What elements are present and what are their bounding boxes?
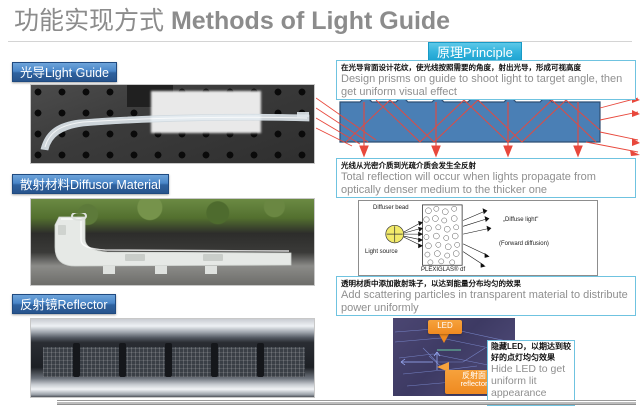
reflector-divider (211, 343, 218, 377)
textbox-scattering-zh: 透明材质中添加散射珠子，以达到能量分布均匀的效果 (341, 279, 631, 289)
label-light-source: Light source (365, 249, 398, 255)
light-guide-prism-diagram (316, 96, 640, 158)
textbox-total-reflection: 光线从光密介质到光疏介质会发生全反射 Total reflection will… (336, 158, 636, 198)
photo-light-guide (30, 84, 315, 164)
diffusion-diagram: Diffuser bead Light source „Diffuse ligh… (358, 200, 598, 276)
textbox-scattering-en: Add scattering particles in transparent … (341, 289, 631, 314)
label-diffuse-light: „Diffuse light" (503, 217, 538, 223)
section-label-reflector: 反射镜Reflector (12, 294, 116, 314)
photo-diffusor-material (30, 198, 315, 286)
page-title-zh: 功能实现方式 (14, 7, 171, 35)
section-label-principle-en: Principle (463, 45, 513, 60)
label-forward-diffusion: (Forward diffusion) (499, 241, 549, 247)
page-title: 功能实现方式 Methods of Light Guide (14, 4, 614, 38)
textbox-scattering: 透明材质中添加散射珠子，以达到能量分布均匀的效果 Add scattering … (336, 276, 636, 316)
textbox-principle-zh: 在光导背面设计花纹，使光线按照需要的角度，射出光导，形成可视高度 (341, 63, 631, 73)
section-label-light-guide: 光导Light Guide (12, 62, 117, 82)
callout-led: LED (428, 320, 462, 334)
section-label-principle: 原理Principle (428, 42, 522, 61)
textbox-total-reflection-zh: 光线从光密介质到光疏介质会发生全反射 (341, 161, 631, 171)
textbox-hide-led: 隐藏LED，以期达到较好的点灯均匀效果 Hide LED to get unif… (487, 340, 575, 406)
reflector-divider (165, 343, 172, 377)
callout-tail-led (439, 334, 449, 343)
textbox-principle: 在光导背面设计花纹，使光线按照需要的角度，射出光导，形成可视高度 Design … (336, 60, 636, 100)
title-divider (8, 41, 632, 42)
footer-divider (57, 400, 636, 405)
section-label-principle-zh: 原理 (437, 45, 463, 60)
reflector-cell-array (43, 347, 305, 377)
diffusion-diagram-graphic (359, 201, 597, 275)
textbox-principle-en: Design prisms on guide to shoot light to… (341, 73, 631, 98)
callout-led-label: LED (437, 321, 453, 330)
section-label-light-guide-en: Light Guide (45, 66, 109, 80)
section-label-diffusor-en: Diffusor Material (70, 178, 161, 192)
label-diffuser-bead: Diffuser bead (373, 205, 409, 211)
textbox-hide-led-zh: 隐藏LED，以期达到较好的点灯均匀效果 (491, 342, 571, 363)
photo-reflector (30, 318, 315, 398)
section-label-diffusor-zh: 散射材料 (20, 178, 70, 192)
section-label-diffusor: 散射材料Diffusor Material (12, 174, 169, 194)
label-plexiglas-df: PLEXIGLAS® df (421, 267, 465, 273)
section-label-light-guide-zh: 光导 (20, 66, 45, 80)
textbox-hide-led-en: Hide LED to get uniform lit appearance (491, 363, 571, 399)
reflector-divider (119, 343, 126, 377)
diffusor-part-shape (45, 213, 299, 275)
light-guide-rod-shape (39, 107, 311, 151)
section-label-reflector-en: Reflector (58, 298, 108, 312)
reflector-divider (257, 343, 264, 377)
reflector-divider (73, 343, 80, 377)
textbox-total-reflection-en: Total reflection will occur when lights … (341, 171, 631, 196)
section-label-reflector-zh: 反射镜 (20, 298, 58, 312)
page-title-en: Methods of Light Guide (171, 7, 450, 35)
